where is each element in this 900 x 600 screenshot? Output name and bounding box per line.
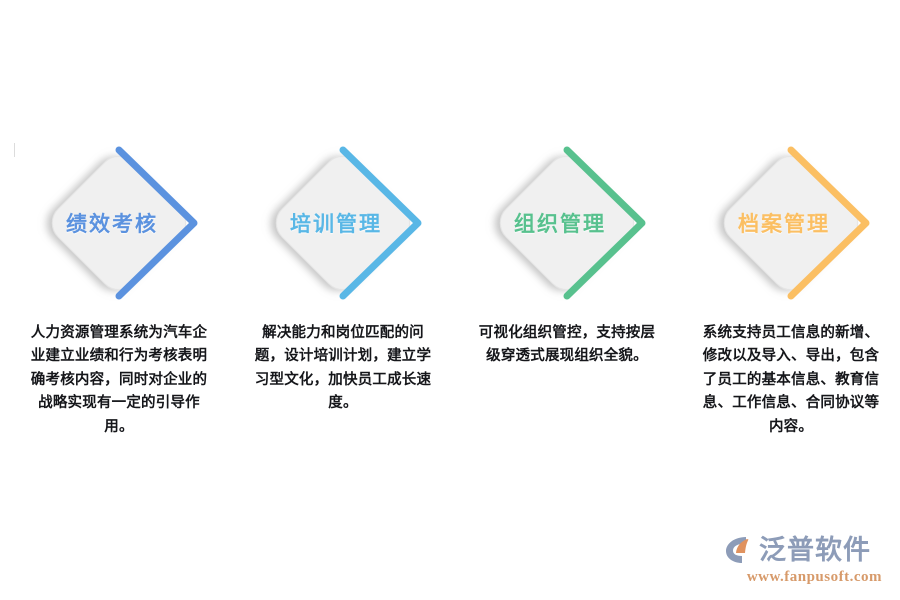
diamond-label: 培训管理 — [248, 148, 438, 298]
diamond-label: 组织管理 — [472, 148, 662, 298]
fanpu-logo-mark-icon — [722, 533, 756, 567]
feature-card-row: 绩效考核 人力资源管理系统为汽车企业建立业绩和行为考核表明确考核内容，同时对企业… — [0, 148, 900, 439]
diamond-badge[interactable]: 档案管理 — [696, 148, 886, 298]
feature-description: 系统支持员工信息的新增、修改以及导入、导出，包含了员工的基本信息、教育信息、工作… — [698, 322, 884, 439]
diamond-badge[interactable]: 组织管理 — [472, 148, 662, 298]
feature-card[interactable]: 绩效考核 人力资源管理系统为汽车企业建立业绩和行为考核表明确考核内容，同时对企业… — [14, 148, 224, 439]
brand-logo: 泛普软件 www.fanpusoft.com — [722, 532, 882, 588]
diamond-badge[interactable]: 绩效考核 — [24, 148, 214, 298]
feature-card[interactable]: 组织管理 可视化组织管控，支持按层级穿透式展现组织全貌。 — [462, 148, 672, 439]
diamond-label: 档案管理 — [696, 148, 886, 298]
feature-description: 人力资源管理系统为汽车企业建立业绩和行为考核表明确考核内容，同时对企业的战略实现… — [26, 322, 212, 439]
diamond-label: 绩效考核 — [24, 148, 214, 298]
logo-url: www.fanpusoft.com — [722, 569, 882, 586]
feature-description: 解决能力和岗位匹配的问题，设计培训计划，建立学习型文化，加快员工成长速度。 — [250, 322, 436, 416]
diamond-badge[interactable]: 培训管理 — [248, 148, 438, 298]
slide-canvas: 绩效考核 人力资源管理系统为汽车企业建立业绩和行为考核表明确考核内容，同时对企业… — [0, 0, 900, 600]
feature-card[interactable]: 培训管理 解决能力和岗位匹配的问题，设计培训计划，建立学习型文化，加快员工成长速… — [238, 148, 448, 439]
feature-description: 可视化组织管控，支持按层级穿透式展现组织全貌。 — [474, 322, 660, 369]
logo-name: 泛普软件 — [759, 537, 871, 564]
logo-row: 泛普软件 — [722, 532, 882, 568]
feature-card[interactable]: 档案管理 系统支持员工信息的新增、修改以及导入、导出，包含了员工的基本信息、教育… — [686, 148, 896, 439]
